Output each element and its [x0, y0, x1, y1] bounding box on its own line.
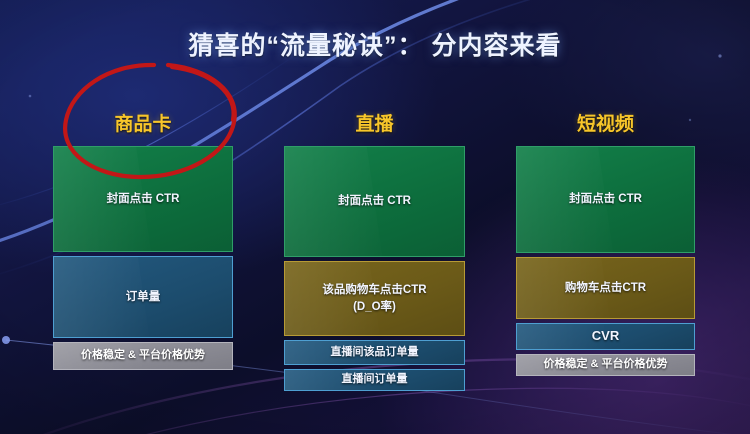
column-short-video: 短视频 封面点击 CTR 购物车点击CTR CVR 价格稳定 & 平台价格优势 [516, 112, 695, 432]
funnel-stack: 封面点击 CTR 购物车点击CTR CVR 价格稳定 & 平台价格优势 [516, 146, 695, 432]
funnel-box: 购物车点击CTR [516, 257, 695, 319]
funnel-stack: 封面点击 CTR 订单量 价格稳定 & 平台价格优势 [53, 146, 233, 432]
column-header: 短视频 [516, 112, 695, 146]
funnel-box: 封面点击 CTR [53, 146, 233, 252]
column-livestream: 直播 封面点击 CTR 该品购物车点击CTR (D_O率) 直播间该品订单量 直… [284, 112, 465, 432]
funnel-box: 价格稳定 & 平台价格优势 [516, 354, 695, 376]
column-product-card: 商品卡 封面点击 CTR 订单量 价格稳定 & 平台价格优势 [53, 112, 233, 432]
column-header: 商品卡 [53, 112, 233, 146]
funnel-box: 封面点击 CTR [516, 146, 695, 253]
funnel-box: 直播间订单量 [284, 369, 465, 391]
funnel-box: 订单量 [53, 256, 233, 338]
funnel-box: 封面点击 CTR [284, 146, 465, 257]
funnel-box: CVR [516, 323, 695, 350]
funnel-box: 直播间该品订单量 [284, 340, 465, 365]
presentation-slide: 猜喜的“流量秘诀”： 分内容来看 商品卡 封面点击 CTR 订单量 价格稳定 &… [0, 0, 750, 434]
funnel-stack: 封面点击 CTR 该品购物车点击CTR (D_O率) 直播间该品订单量 直播间订… [284, 146, 465, 432]
column-header: 直播 [284, 112, 465, 146]
slide-title: 猜喜的“流量秘诀”： 分内容来看 [0, 26, 750, 62]
content-columns: 商品卡 封面点击 CTR 订单量 价格稳定 & 平台价格优势 直播 封面点击 C… [53, 112, 695, 432]
funnel-box: 价格稳定 & 平台价格优势 [53, 342, 233, 370]
funnel-box: 该品购物车点击CTR (D_O率) [284, 261, 465, 336]
